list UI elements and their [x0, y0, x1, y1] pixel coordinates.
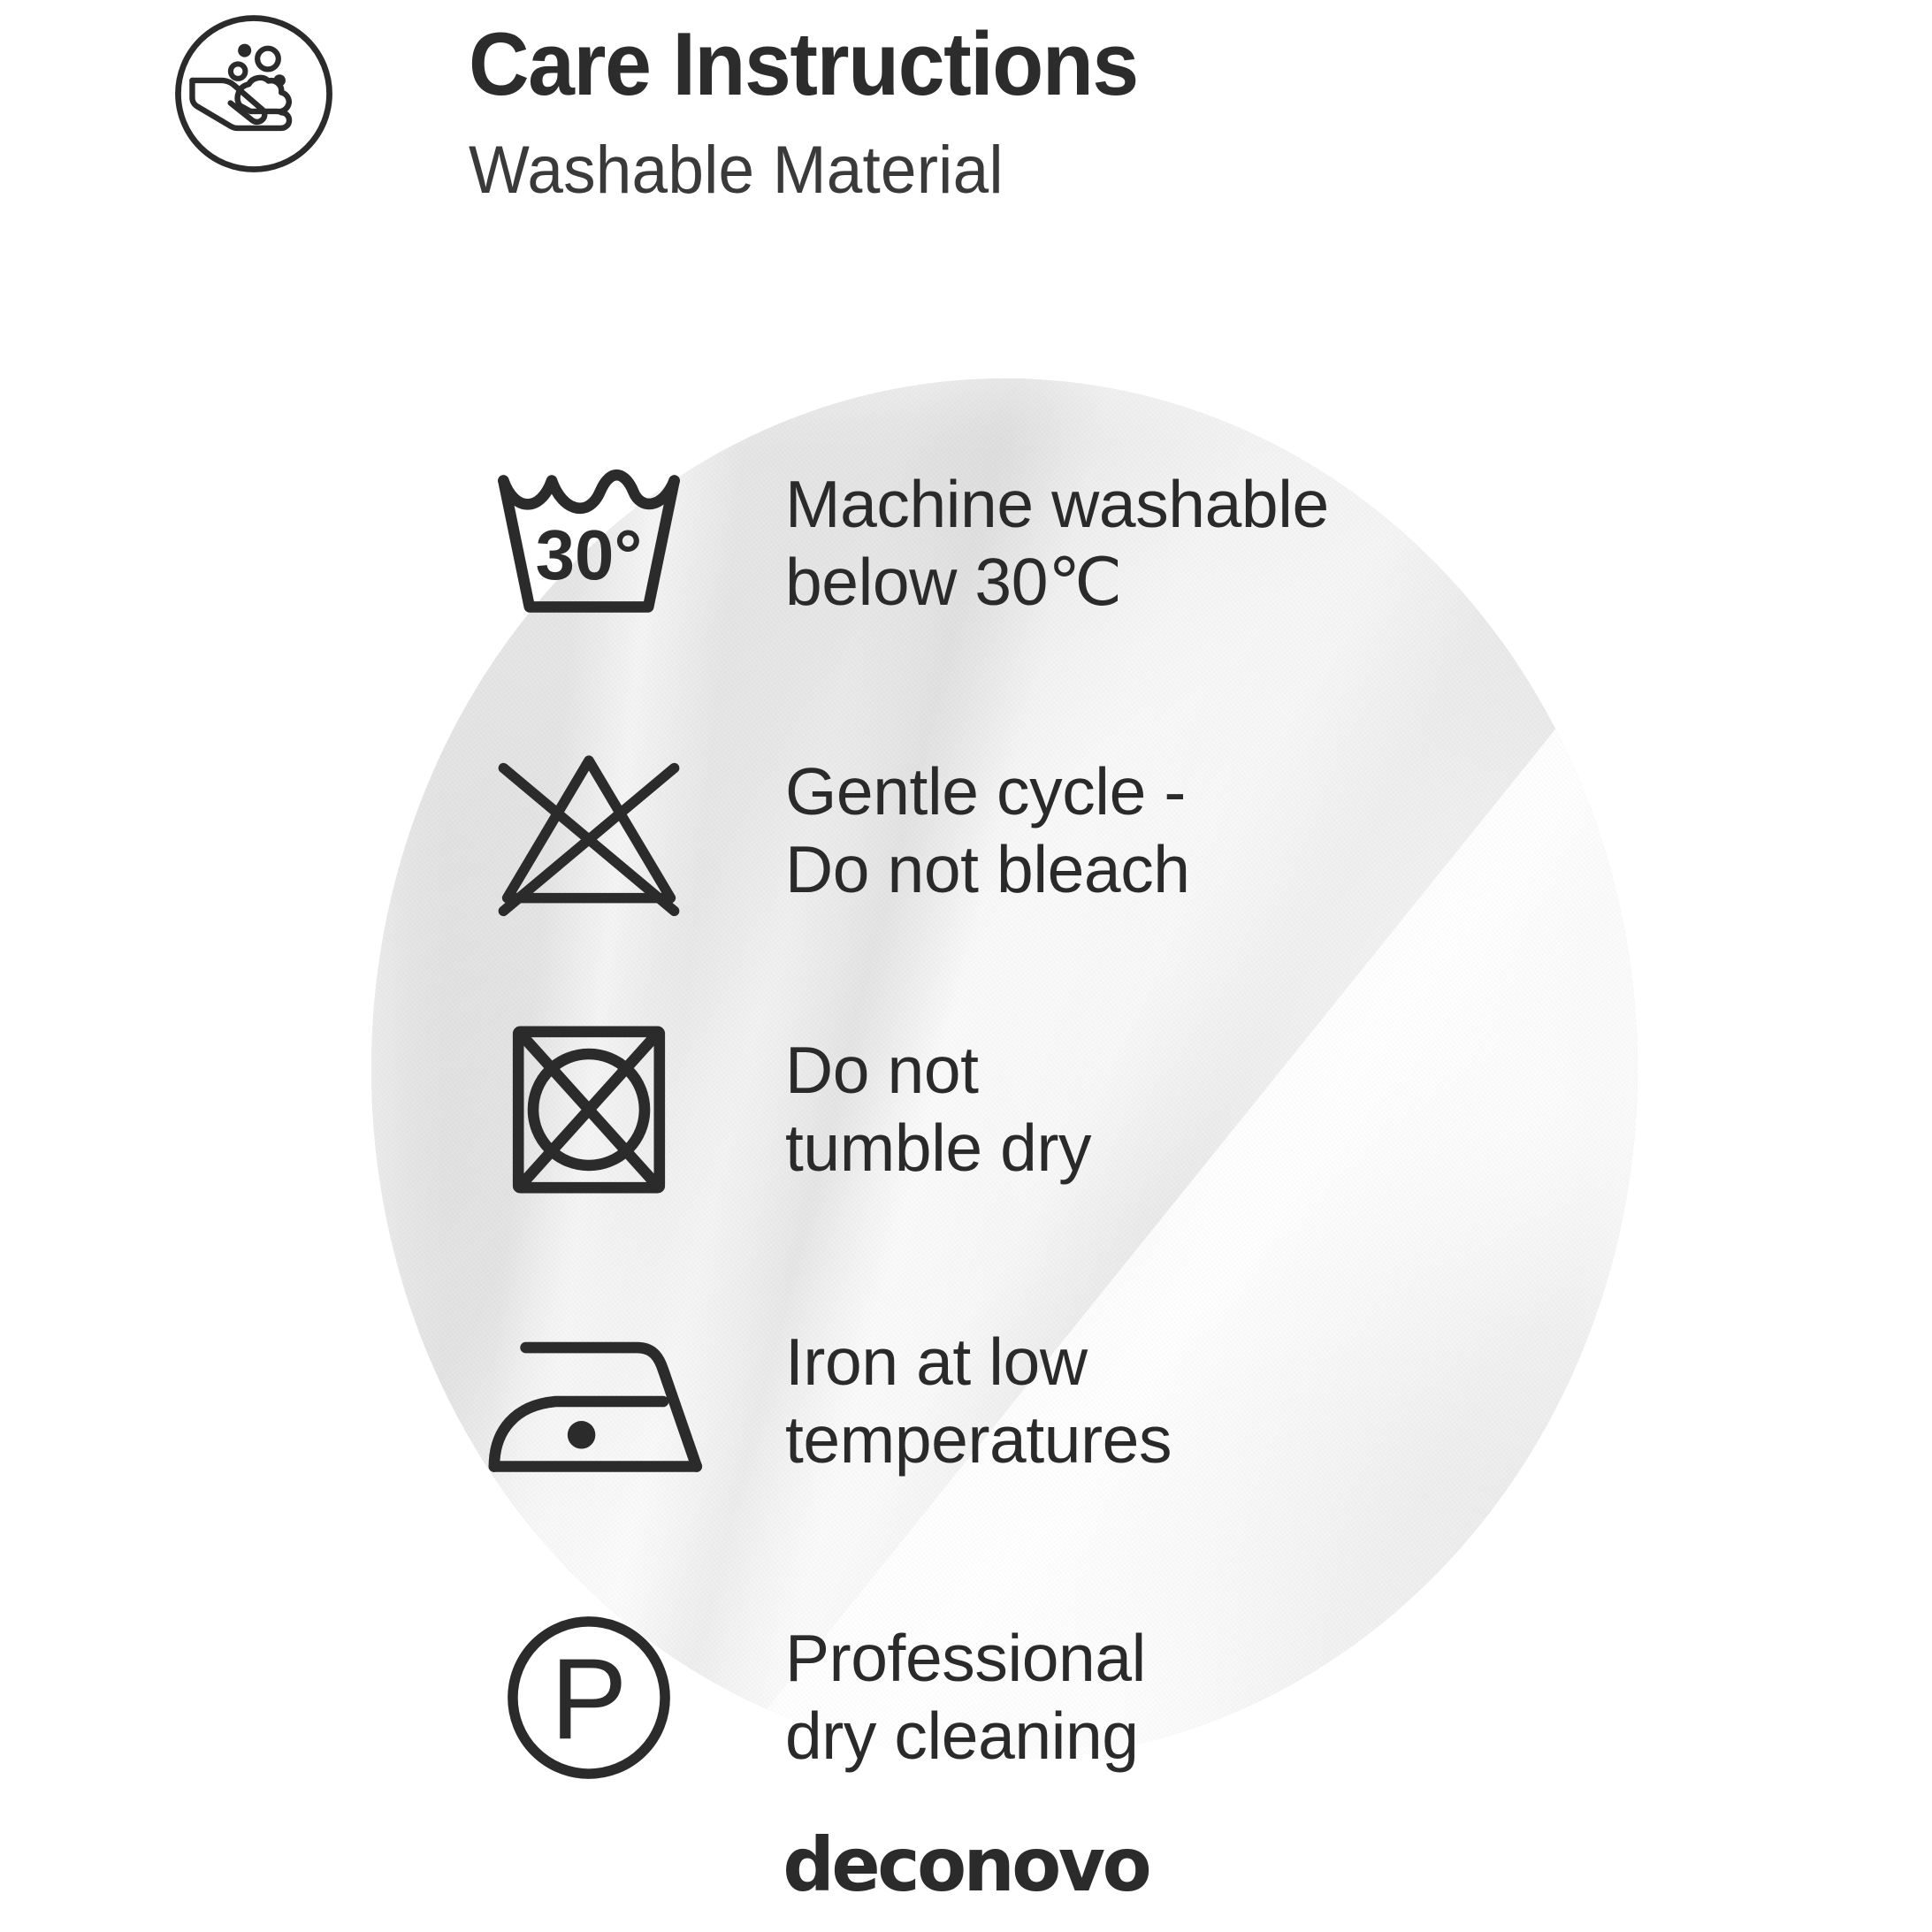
- care-row-do-not-bleach: Gentle cycle - Do not bleach: [477, 721, 1627, 942]
- care-row-do-not-tumble-dry: Do not tumble dry: [477, 999, 1627, 1220]
- care-instruction-list: 30° Machine washable below 30℃ Gentle cy…: [0, 0, 1932, 1932]
- wash-tub-30-icon: 30°: [477, 451, 743, 637]
- care-label-do-not-bleach: Gentle cycle - Do not bleach: [743, 753, 1627, 909]
- wash-temperature-label: 30°: [536, 515, 643, 594]
- dry-clean-code-label: P: [551, 1634, 628, 1763]
- brand-logo: deconovo: [783, 1821, 1149, 1908]
- professional-dry-clean-p-icon: P: [477, 1605, 743, 1791]
- care-label-do-not-tumble-dry: Do not tumble dry: [743, 1032, 1627, 1187]
- do-not-tumble-dry-icon: [477, 1017, 743, 1203]
- care-row-iron-low-temperature: Iron at low temperatures: [477, 1291, 1627, 1512]
- care-row-professional-dry-cleaning: P Professional dry cleaning: [477, 1587, 1627, 1808]
- care-label-machine-wash: Machine washable below 30℃: [743, 466, 1627, 622]
- do-not-bleach-triangle-icon: [477, 738, 743, 924]
- care-label-professional-dry-cleaning: Professional dry cleaning: [743, 1620, 1627, 1775]
- care-label-iron-low-temperature: Iron at low temperatures: [743, 1324, 1627, 1479]
- footer: deconovo: [0, 1821, 1932, 1908]
- care-row-machine-wash: 30° Machine washable below 30℃: [477, 433, 1627, 654]
- iron-low-temperature-icon: [477, 1309, 743, 1494]
